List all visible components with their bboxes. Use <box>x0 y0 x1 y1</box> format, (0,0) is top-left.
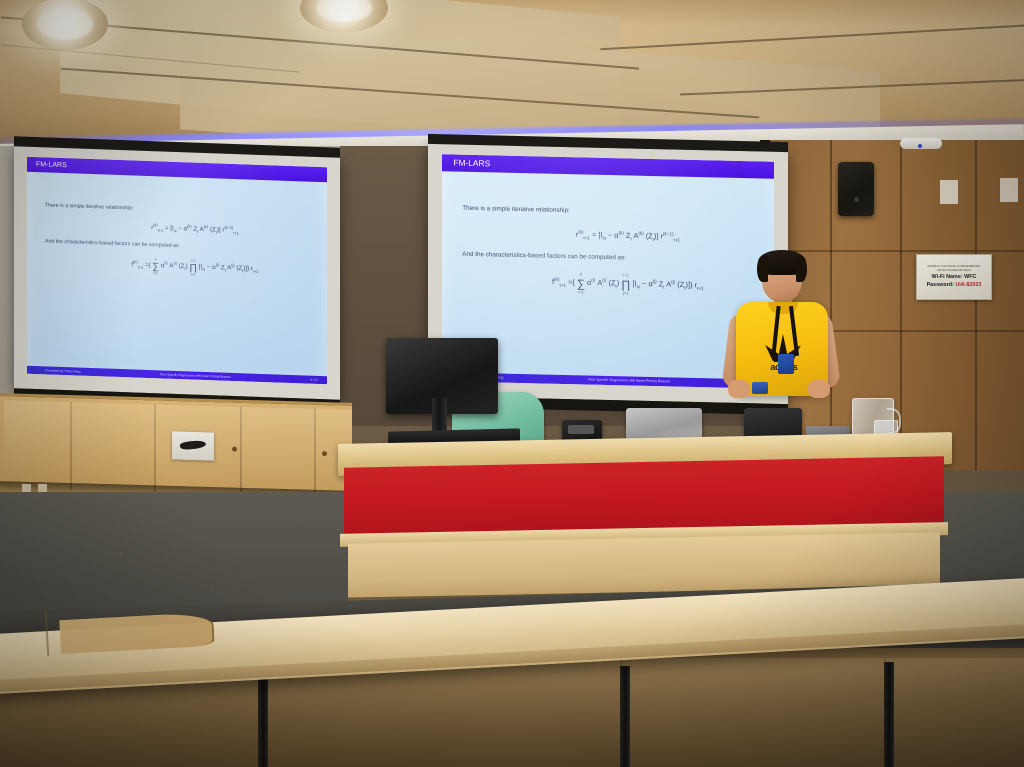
presenter-right-hand <box>808 380 830 398</box>
projection-screen-left: FM-LARS There is a simple iterative rela… <box>14 146 340 399</box>
slide-footer-title: Firm Specific Regression with Asset Pric… <box>160 373 231 379</box>
presenter-hair-side <box>757 256 768 282</box>
slide-header-bar: FM-LARS <box>27 156 327 181</box>
sign-password-value: UiA-82023 <box>955 282 981 288</box>
desk-leg <box>620 666 630 767</box>
ceiling-seam <box>600 24 1024 51</box>
slide-title: FM-LARS <box>27 156 327 181</box>
slide-footer-author: Presented by Yumei Yang <box>27 368 80 374</box>
slide-line-1: There is a simple iterative relationship… <box>462 203 773 223</box>
wall-speaker-icon <box>838 162 874 216</box>
presenter: adidas <box>724 250 836 422</box>
presentation-clicker <box>752 382 768 394</box>
slide-equation-1: r(k)t+1 = [IN − α(k) Zt A(k) (Zt)] r(k−1… <box>45 218 327 241</box>
presenter-hair-side <box>796 256 807 282</box>
presenter-left-hand <box>728 380 750 398</box>
wood-seam <box>975 140 977 470</box>
sign-conference-line2: KRISTIANSAND 2023 <box>937 269 971 273</box>
slide-left: FM-LARS There is a simple iterative rela… <box>27 156 327 384</box>
product-operator: i−1∏j=1 <box>189 259 197 277</box>
sign-password-row: Password: UiA-82023 <box>927 282 982 289</box>
ceiling-downlight-icon <box>22 0 108 50</box>
wall-notice-paper <box>1000 178 1018 202</box>
sign-password-label: Password: <box>927 282 954 288</box>
wifi-info-sign: WORLD FINANCE CONFERENCE KRISTIANSAND 20… <box>916 254 992 300</box>
slide-line-1: There is a simple iterative relationship… <box>45 201 327 221</box>
desk-leg <box>258 672 268 767</box>
slide-equation-2: f(k)t+1 ={ k∑i=1 α(i) A(i) (Zt) i−1∏j=1 … <box>45 254 327 282</box>
sum-operator: k∑i=1 <box>577 273 585 295</box>
desk-leg <box>884 662 894 767</box>
slide-footer-title: Firm Specific Regression with Asset Pric… <box>588 378 670 384</box>
cabinet-poster <box>172 431 214 460</box>
slide-line-2: And the characteristics-based factors ca… <box>45 238 327 258</box>
slide-body: There is a simple iterative relationship… <box>27 200 327 290</box>
slide-title: FM-LARS <box>442 154 773 179</box>
slide-footer: Presented by Yumei Yang Firm Specific Re… <box>27 366 327 384</box>
sum-operator: k∑i=1 <box>152 258 159 276</box>
product-operator: i−1∏j=1 <box>621 274 630 296</box>
sign-wifi-value: WFC <box>964 274 976 280</box>
lecture-hall-photo: WORLD FINANCE CONFERENCE KRISTIANSAND 20… <box>0 0 1024 767</box>
slide-header-bar: FM-LARS <box>442 154 773 179</box>
slide-footer-page: 4 / 21 <box>310 378 327 383</box>
slide-equation-1: r(k)t+1 = [IN − α(k) Zt A(k) (Zt)] r(k−1… <box>462 224 773 247</box>
wall-notice-paper <box>940 180 958 204</box>
conference-badge <box>778 354 794 374</box>
sign-wifi-row: Wi-Fi Name: WFC <box>932 274 977 281</box>
wifi-access-point-icon <box>900 138 942 149</box>
sign-wifi-label: Wi-Fi Name: <box>932 274 963 280</box>
